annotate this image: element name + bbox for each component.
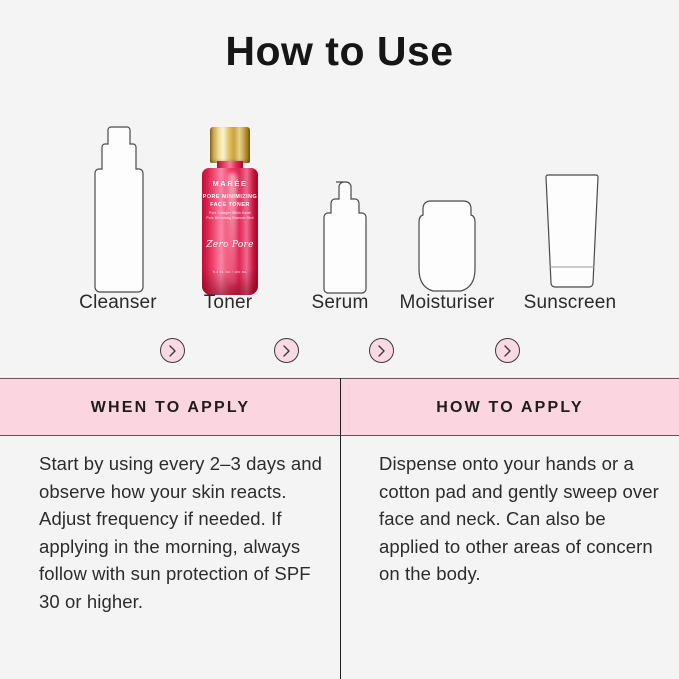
step-label-toner: Toner: [168, 292, 288, 314]
step-product-sunscreen: [528, 167, 616, 295]
chevron-right-icon: [274, 338, 299, 363]
instructions-table: WHEN TO APPLY HOW TO APPLY Start by usin…: [0, 378, 679, 679]
step-product-moisturiser: [403, 190, 491, 295]
step-label-sunscreen: Sunscreen: [505, 292, 635, 314]
bottle-cap: [210, 127, 250, 163]
pump-bottle-outline-icon: [87, 123, 151, 295]
column-divider: [340, 378, 341, 679]
bottle-highlight: [228, 173, 237, 285]
step-label-serum: Serum: [282, 292, 398, 314]
table-header-how-to-apply: HOW TO APPLY: [341, 379, 679, 437]
step-label-moisturiser: Moisturiser: [382, 292, 512, 314]
step-product-serum: [305, 177, 377, 295]
table-cell-when-to-apply: Start by using every 2–3 days and observ…: [39, 450, 329, 615]
step-product-toner: MARÉE PORE MINIMIZING FACE TONER Pore Co…: [190, 127, 270, 295]
page-title: How to Use: [0, 28, 679, 75]
chevron-right-icon: [160, 338, 185, 363]
step-labels-row: Cleanser Toner Serum Moisturiser Sunscre…: [0, 292, 679, 318]
table-cell-how-to-apply: Dispense onto your hands or a cotton pad…: [379, 450, 667, 588]
table-header-when-to-apply: WHEN TO APPLY: [0, 379, 341, 437]
routine-steps-row: MARÉE PORE MINIMIZING FACE TONER Pore Co…: [0, 105, 679, 295]
product-name: PORE MINIMIZING FACE TONER: [200, 193, 260, 209]
step-product-cleanser: [78, 110, 160, 295]
cream-jar-outline-icon: [409, 195, 485, 295]
product-script: Zero Pore: [200, 240, 260, 250]
infographic-page: How to Use MARÉE PORE MINIMIZING FACE TO…: [0, 0, 679, 679]
step-label-cleanser: Cleanser: [48, 292, 188, 314]
product-brand: MARÉE: [200, 179, 260, 188]
chevron-right-icon: [369, 338, 394, 363]
squeeze-tube-outline-icon: [535, 171, 609, 295]
chevron-right-icon: [495, 338, 520, 363]
dropper-bottle-outline-icon: [312, 179, 370, 295]
product-volume: 5.4 FL OZ / 160 ML: [200, 270, 260, 274]
toner-bottle-product-icon: MARÉE PORE MINIMIZING FACE TONER Pore Co…: [200, 127, 260, 295]
product-subtitle: Pore Collagen Witch Hazel Pore Minimizin…: [200, 211, 260, 220]
